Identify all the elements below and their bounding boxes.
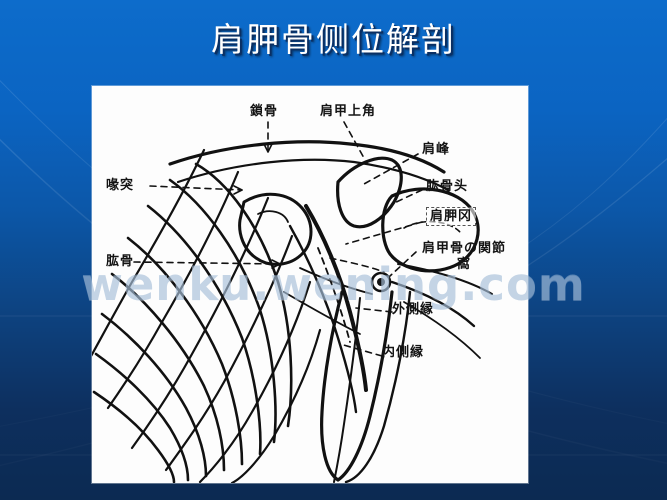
- diagram-panel: 鎖骨 肩甲上角 肩峰 肱骨头 肩胛冈 肩甲骨の関節窩 外側縁 内側縁 喙突 肱骨…: [92, 86, 528, 483]
- diagram-label-scapular-spine-selected[interactable]: 肩胛冈: [426, 207, 476, 226]
- diagram-label-superior-angle: 肩甲上角: [320, 104, 376, 119]
- diagram-label-coracoid: 喙突: [106, 178, 134, 193]
- diagram-label-lateral-border: 外側縁: [392, 302, 434, 317]
- slide-canvas: 肩胛骨侧位解剖: [0, 0, 667, 500]
- page-title: 肩胛骨侧位解剖: [0, 20, 667, 60]
- diagram-label-humerus: 肱骨: [106, 254, 134, 269]
- diagram-label-humeral-head: 肱骨头: [426, 179, 468, 194]
- diagram-label-acromion: 肩峰: [422, 142, 450, 157]
- diagram-label-clavicle: 鎖骨: [250, 104, 278, 119]
- diagram-label-glenoid-fossa: 肩甲骨の関節窩: [418, 241, 510, 273]
- scapula-lateral-anatomy-drawing: [92, 86, 528, 483]
- diagram-label-medial-border: 内側縁: [382, 345, 424, 360]
